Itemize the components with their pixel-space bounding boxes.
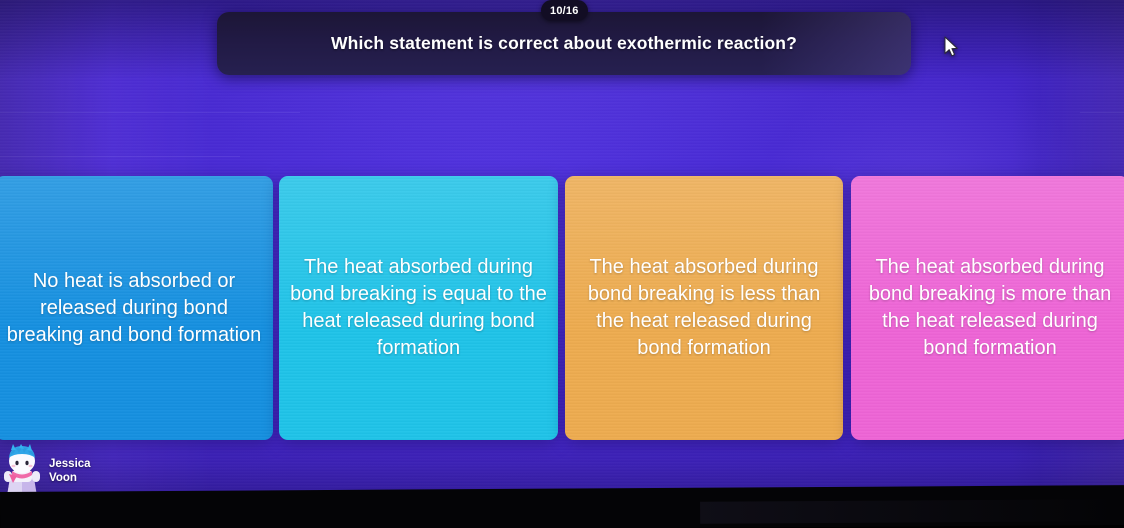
mouse-pointer-icon [944, 36, 960, 58]
answer-option-2-text: The heat absorbed during bond breaking i… [287, 254, 550, 362]
answer-option-3-text: The heat absorbed during bond breaking i… [573, 254, 835, 362]
player-name: Jessica Voon [49, 457, 91, 485]
answer-option-2[interactable]: The heat absorbed during bond breaking i… [279, 176, 558, 440]
player-last-name: Voon [49, 471, 91, 485]
question-banner: Which statement is correct about exother… [217, 12, 911, 75]
screen-bottom-bezel [0, 485, 1124, 528]
answer-option-1-text: No heat is absorbed or released during b… [3, 268, 265, 349]
question-text: Which statement is correct about exother… [293, 33, 835, 54]
answer-option-4[interactable]: The heat absorbed during bond breaking i… [851, 176, 1124, 440]
character-avatar-icon [0, 444, 44, 498]
bezel-reflection [700, 499, 1120, 524]
answer-option-3[interactable]: The heat absorbed during bond breaking i… [565, 176, 843, 440]
player-first-name: Jessica [49, 457, 91, 471]
answer-option-4-text: The heat absorbed during bond breaking i… [859, 254, 1121, 362]
player-nameplate: Jessica Voon [0, 444, 91, 498]
question-progress-badge: 10/16 [541, 0, 588, 21]
quiz-screen: Which statement is correct about exother… [0, 0, 1124, 528]
answer-grid: No heat is absorbed or released during b… [0, 176, 1124, 442]
answer-option-1[interactable]: No heat is absorbed or released during b… [0, 176, 273, 440]
